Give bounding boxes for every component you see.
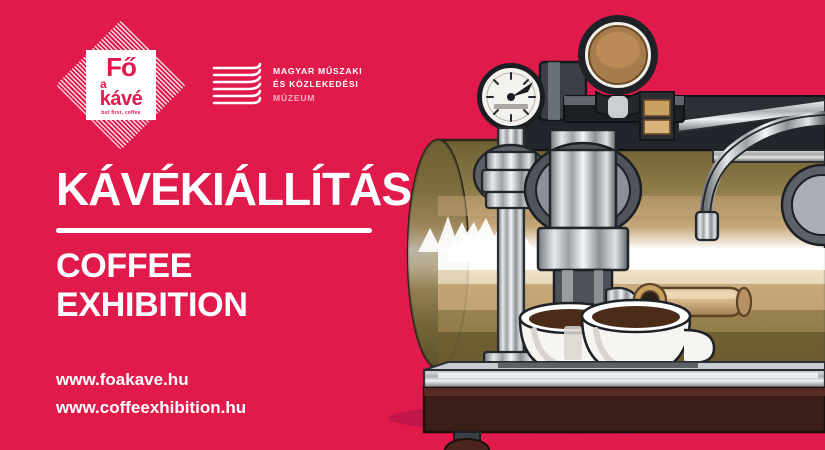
headline-english: COFFEE EXHIBITION: [56, 247, 248, 326]
logo-line-kave: kávé: [86, 89, 156, 109]
logo-line-fo: Fő: [86, 54, 156, 80]
link-coffeexhibition[interactable]: www.coffeexhibition.hu: [56, 394, 246, 422]
headline-english-line2: EXHIBITION: [56, 286, 248, 325]
logo-row: Fő a kávé but first, coffee MAGYAR MŰSZA…: [56, 20, 362, 150]
espresso-machine-svg: [378, 0, 825, 450]
drip-tray: [424, 362, 825, 388]
logo-lettering: Fő a kávé but first, coffee: [86, 54, 156, 116]
museum-name: MAGYAR MŰSZAKI ÉS KÖZLEKEDÉSI MÚZEUM: [273, 65, 362, 104]
machine-foot: [445, 439, 489, 450]
logo-tagline: but first, coffee: [86, 111, 156, 116]
fo-a-kave-logo: Fő a kávé but first, coffee: [56, 20, 186, 150]
steam-wand-tip: [696, 212, 718, 240]
museum-logo: MAGYAR MŰSZAKI ÉS KÖZLEKEDÉSI MÚZEUM: [212, 62, 362, 108]
gauge-label: [494, 104, 528, 109]
headline-divider: [56, 228, 372, 233]
headline-english-line1: COFFEE: [56, 247, 248, 286]
promo-banner: Fő a kávé but first, coffee MAGYAR MŰSZA…: [0, 0, 825, 450]
link-foakave[interactable]: www.foakave.hu: [56, 366, 246, 394]
museum-name-line2: ÉS KÖZLEKEDÉSI: [273, 78, 362, 91]
museum-name-line3: MÚZEUM: [273, 92, 362, 105]
wave-lines-icon: [212, 62, 262, 108]
pressure-gauge: [477, 63, 545, 131]
espresso-machine-illustration: [378, 0, 825, 450]
brass-knob-block: [640, 92, 674, 140]
machine-base: [424, 388, 825, 450]
headline-hungarian: KÁVÉKIÁLLÍTÁS: [56, 166, 411, 212]
website-links: www.foakave.hu www.coffeexhibition.hu: [56, 366, 246, 421]
museum-name-line1: MAGYAR MŰSZAKI: [273, 65, 362, 78]
